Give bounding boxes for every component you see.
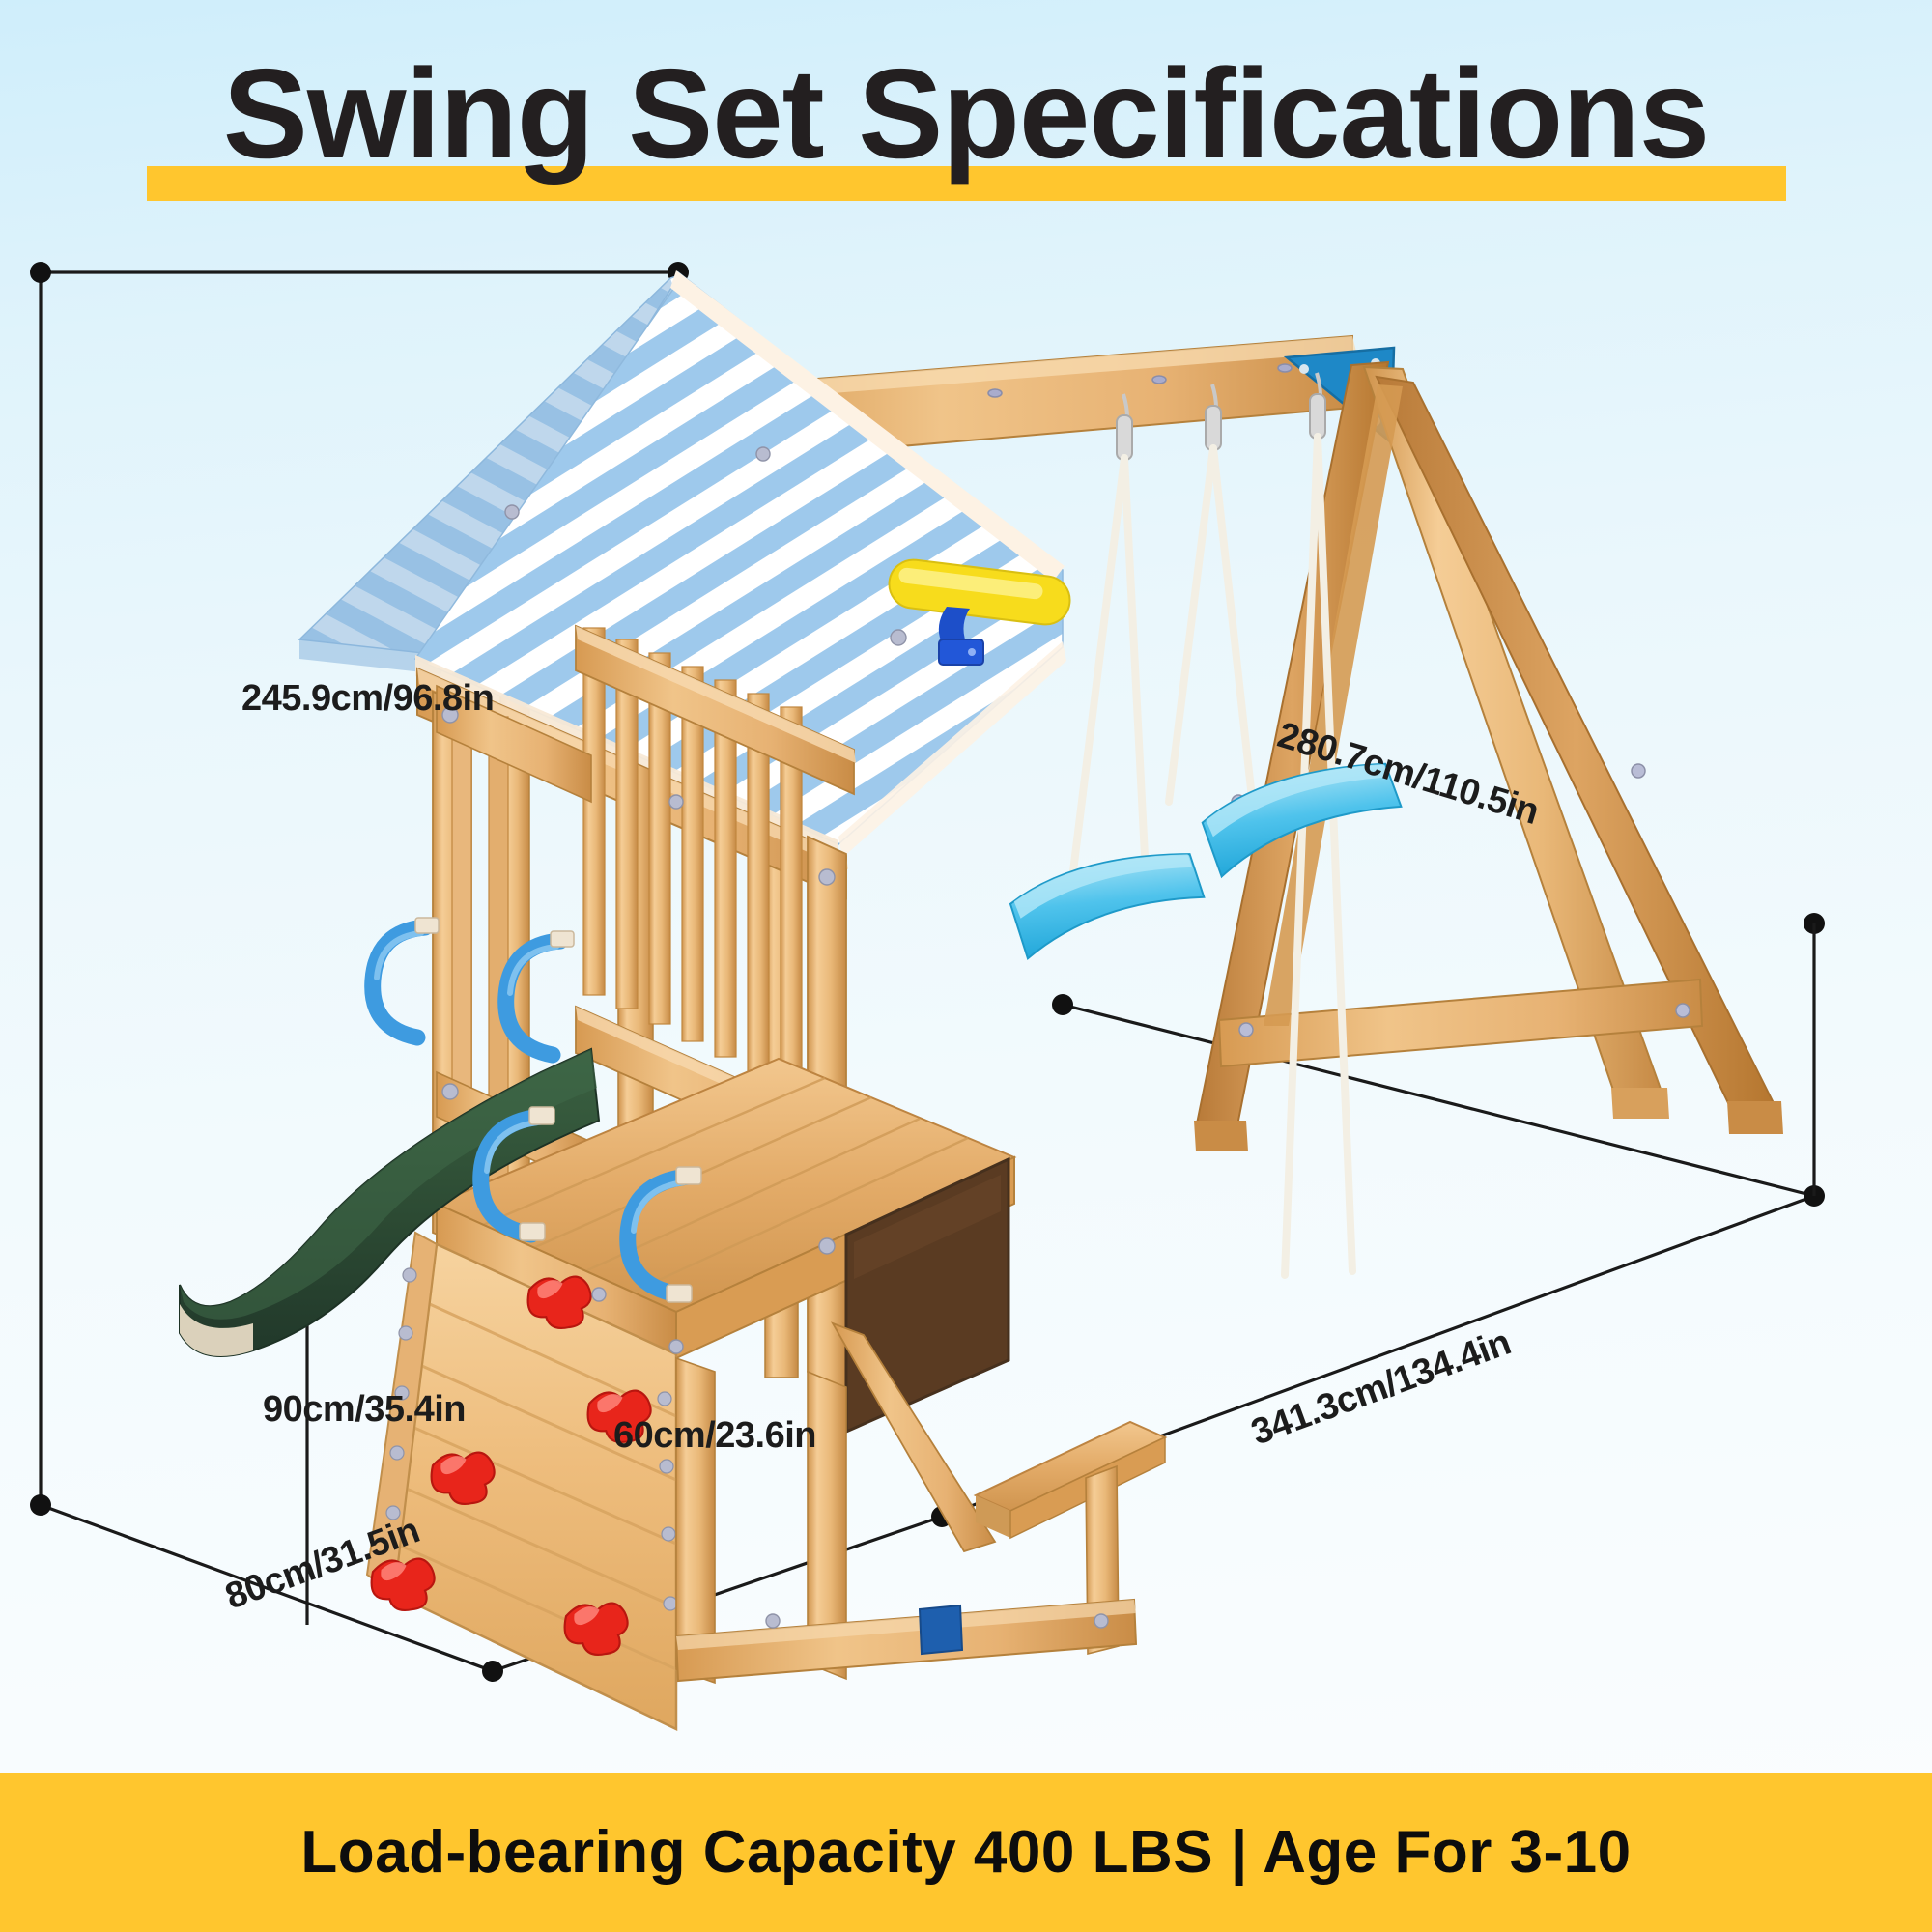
product-illustration: 245.9cm/96.8in 280.7cm/110.5in 341.3cm/1… — [0, 222, 1932, 1768]
footer-banner: Load-bearing Capacity 400 LBS | Age For … — [0, 1773, 1932, 1932]
capacity-age-text: Load-bearing Capacity 400 LBS | Age For … — [300, 1818, 1631, 1887]
playset-tower — [180, 270, 1165, 1729]
dimension-label-deck-height: 60cm/23.6in — [613, 1415, 816, 1457]
safety-handle — [506, 941, 560, 1055]
swing-seat — [1007, 851, 1208, 960]
header-band: Swing Set Specifications — [0, 0, 1932, 222]
safety-handle — [373, 927, 425, 1037]
dimension-label-height: 245.9cm/96.8in — [241, 678, 494, 720]
playset-drawing — [0, 222, 1932, 1768]
page-title: Swing Set Specifications — [0, 50, 1932, 178]
ground-bracket — [920, 1605, 962, 1654]
dimension-label-wall-height: 90cm/35.4in — [263, 1389, 466, 1431]
